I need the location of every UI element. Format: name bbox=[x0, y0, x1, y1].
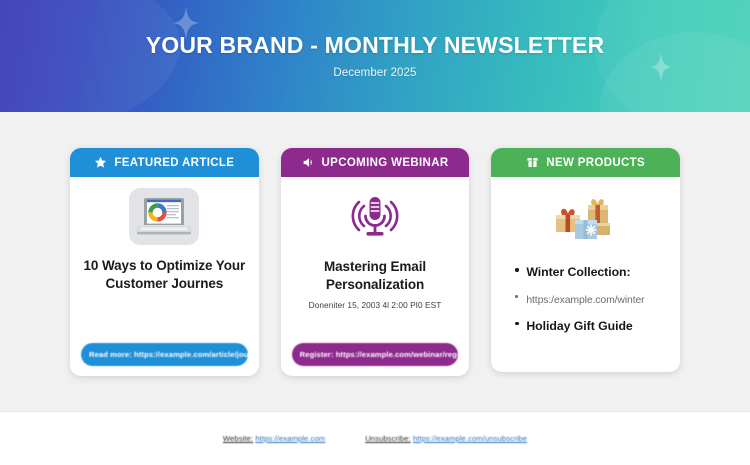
page-title: YOUR BRAND - MONTHLY NEWSLETTER bbox=[0, 33, 750, 59]
laptop-chart-icon bbox=[129, 188, 199, 245]
footer: Website: https://example.com Unsubscribe… bbox=[0, 411, 750, 465]
speaker-icon bbox=[302, 156, 315, 169]
gift-box-icon bbox=[526, 156, 539, 169]
register-button[interactable]: Register: https://example.com/webinar/re… bbox=[292, 343, 459, 366]
card-new-products[interactable]: NEW PRODUCTS bbox=[491, 148, 680, 372]
card-header-webinar: UPCOMING WEBINAR bbox=[281, 148, 470, 177]
newsletter-page: YOUR BRAND - MONTHLY NEWSLETTER December… bbox=[0, 0, 750, 465]
card-header-products: NEW PRODUCTS bbox=[491, 148, 680, 177]
product-list: Winter Collection: https:/example.com/wi… bbox=[502, 262, 669, 342]
gift-stack-icon bbox=[547, 188, 625, 246]
card-featured-article[interactable]: FEATURED ARTICLE bbox=[70, 148, 259, 376]
microphone-icon bbox=[339, 188, 411, 246]
card-badge-label: FEATURED ARTICLE bbox=[114, 157, 234, 169]
card-badge-label: NEW PRODUCTS bbox=[546, 157, 645, 169]
product-name: Winter Collection: bbox=[526, 265, 630, 279]
star-icon bbox=[94, 156, 107, 169]
card-body-featured: 10 Ways to Optimize Your Customer Journe… bbox=[70, 177, 259, 376]
card-title-webinar: Mastering Email Personalization bbox=[292, 258, 459, 293]
card-title-featured: 10 Ways to Optimize Your Customer Journe… bbox=[81, 257, 248, 292]
card-badge-label: UPCOMING WEBINAR bbox=[322, 157, 449, 169]
card-upcoming-webinar[interactable]: UPCOMING WEBINAR bbox=[281, 148, 470, 376]
footer-unsubscribe-link[interactable]: Unsubscribe: https://example.com/unsubsc… bbox=[365, 434, 527, 443]
main-content: FEATURED ARTICLE bbox=[0, 112, 750, 465]
footer-website-link[interactable]: Website: https://example.com bbox=[223, 434, 325, 443]
list-item[interactable]: Winter Collection: bbox=[514, 262, 669, 283]
card-row: FEATURED ARTICLE bbox=[0, 148, 750, 376]
read-more-button[interactable]: Read more: https://example.com/article/j… bbox=[81, 343, 248, 366]
card-body-products: Winter Collection: https:/example.com/wi… bbox=[491, 177, 680, 372]
card-body-webinar: Mastering Email Personalization Donenite… bbox=[281, 177, 470, 376]
product-url: https:/example.com/winter bbox=[526, 295, 644, 306]
issue-date: December 2025 bbox=[0, 67, 750, 79]
footer-website-label: Website: bbox=[223, 434, 253, 443]
webinar-datetime: Doneniter 15, 2003 4l 2:00 PI0 EST bbox=[309, 300, 442, 310]
header-text-block: YOUR BRAND - MONTHLY NEWSLETTER December… bbox=[0, 0, 750, 79]
card-header-featured: FEATURED ARTICLE bbox=[70, 148, 259, 177]
footer-unsubscribe-label: Unsubscribe: bbox=[365, 434, 411, 443]
product-name: Holiday Gift Guide bbox=[526, 319, 632, 333]
header-banner: YOUR BRAND - MONTHLY NEWSLETTER December… bbox=[0, 0, 750, 112]
list-item[interactable]: Holiday Gift Guide bbox=[514, 316, 669, 337]
footer-website-url: https://example.com bbox=[255, 434, 325, 443]
list-item[interactable]: https:/example.com/winter bbox=[514, 289, 669, 310]
footer-unsubscribe-url: https://example.com/unsubscribe bbox=[413, 434, 527, 443]
